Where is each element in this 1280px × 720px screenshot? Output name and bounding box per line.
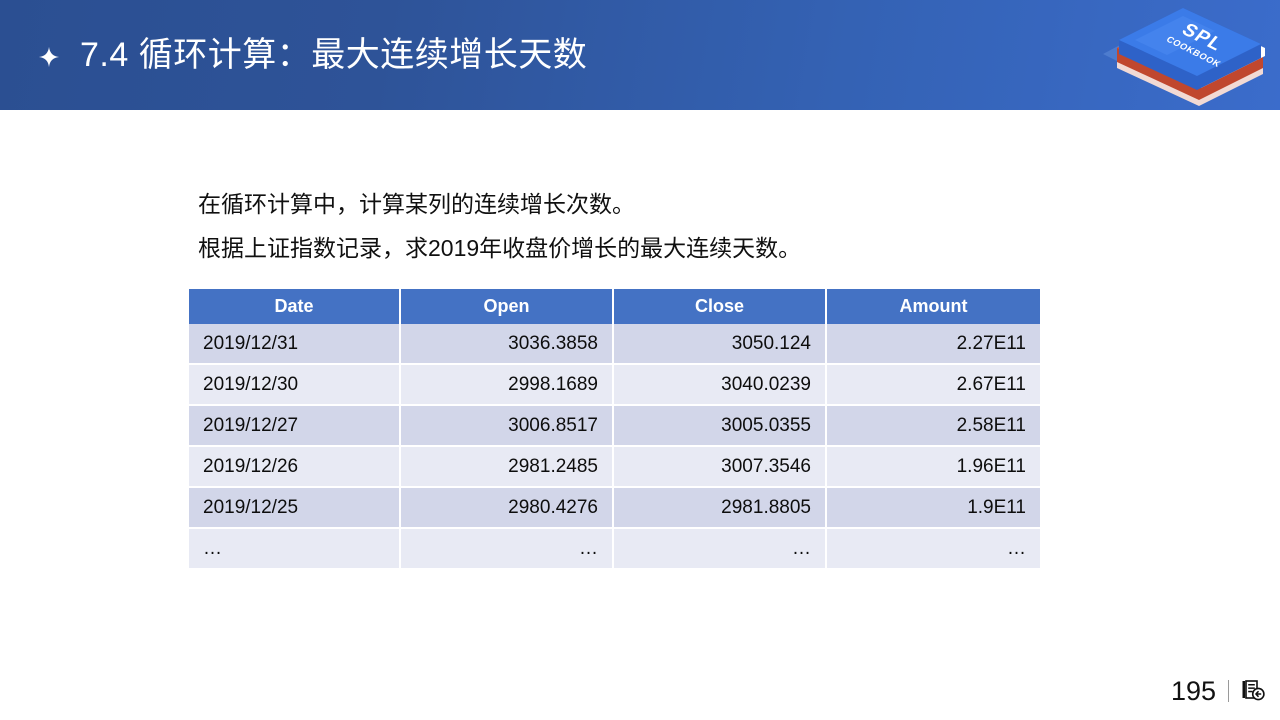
logo-line-1: SPL [1177, 20, 1227, 55]
cell-close: 2981.8805 [614, 488, 827, 529]
cell-amount: 2.27E11 [827, 324, 1040, 365]
cell-date: 2019/12/31 [189, 324, 401, 365]
cell-date: 2019/12/25 [189, 488, 401, 529]
cell-date: 2019/12/30 [189, 365, 401, 406]
table-row: 2019/12/27 3006.8517 3005.0355 2.58E11 [189, 406, 1040, 447]
table-header-row: Date Open Close Amount [189, 289, 1040, 324]
logo-line-2: COOKBOOK [1164, 34, 1223, 69]
spl-cookbook-logo: SPL COOKBOOK [1095, 2, 1270, 127]
body-line-1: 在循环计算中，计算某列的连续增长次数。 [198, 182, 1098, 226]
sparkle-star-icon [38, 46, 60, 68]
title-row: 7.4 循环计算：最大连续增长天数 [38, 0, 587, 110]
column-header-date: Date [189, 289, 401, 324]
cell-open: 2998.1689 [401, 365, 614, 406]
cell-date: 2019/12/27 [189, 406, 401, 447]
cell-date: 2019/12/26 [189, 447, 401, 488]
cell-amount: … [827, 529, 1040, 568]
cell-open: 3006.8517 [401, 406, 614, 447]
table-row-ellipsis: … … … … [189, 529, 1040, 568]
cell-close: 3050.124 [614, 324, 827, 365]
cell-close: 3005.0355 [614, 406, 827, 447]
cell-open: 2980.4276 [401, 488, 614, 529]
column-header-open: Open [401, 289, 614, 324]
cell-date: … [189, 529, 401, 568]
page-number: 195 [1171, 678, 1216, 705]
document-return-icon[interactable] [1240, 678, 1266, 704]
cell-open: … [401, 529, 614, 568]
stock-data-table: Date Open Close Amount 2019/12/31 3036.3… [189, 289, 1040, 568]
cell-amount: 1.9E11 [827, 488, 1040, 529]
table-row: 2019/12/25 2980.4276 2981.8805 1.9E11 [189, 488, 1040, 529]
slide-root: 7.4 循环计算：最大连续增长天数 [0, 0, 1280, 720]
table-row: 2019/12/26 2981.2485 3007.3546 1.96E11 [189, 447, 1040, 488]
body-line-2: 根据上证指数记录，求2019年收盘价增长的最大连续天数。 [198, 226, 1098, 270]
page-title: 7.4 循环计算：最大连续增长天数 [80, 38, 587, 72]
cell-close: … [614, 529, 827, 568]
cell-close: 3040.0239 [614, 365, 827, 406]
cell-close: 3007.3546 [614, 447, 827, 488]
cell-amount: 1.96E11 [827, 447, 1040, 488]
column-header-close: Close [614, 289, 827, 324]
cell-open: 3036.3858 [401, 324, 614, 365]
slide-footer: 195 [1171, 674, 1266, 708]
cell-amount: 2.58E11 [827, 406, 1040, 447]
body-text-block: 在循环计算中，计算某列的连续增长次数。 根据上证指数记录，求2019年收盘价增长… [198, 182, 1098, 270]
cell-open: 2981.2485 [401, 447, 614, 488]
footer-divider [1228, 680, 1229, 702]
column-header-amount: Amount [827, 289, 1040, 324]
table-row: 2019/12/31 3036.3858 3050.124 2.27E11 [189, 324, 1040, 365]
header-banner: 7.4 循环计算：最大连续增长天数 [0, 0, 1280, 110]
cell-amount: 2.67E11 [827, 365, 1040, 406]
table-row: 2019/12/30 2998.1689 3040.0239 2.67E11 [189, 365, 1040, 406]
